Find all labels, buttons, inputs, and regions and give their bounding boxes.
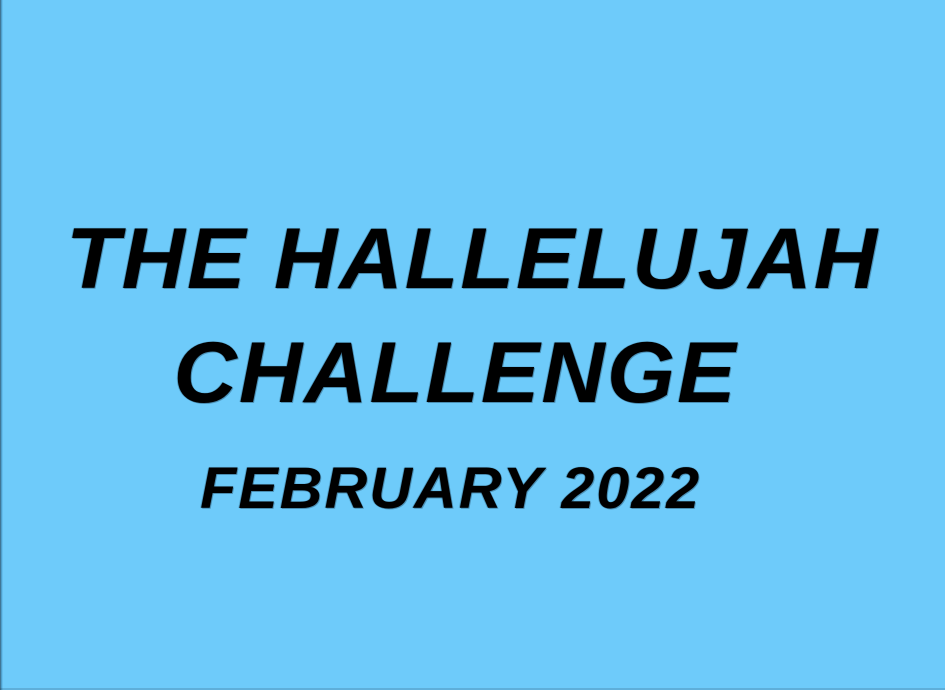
- subtitle-date: FEBRUARY 2022: [200, 460, 701, 518]
- title-line-2: CHALLENGE: [173, 330, 737, 416]
- title-block: THE HALLELUJAH CHALLENGE FEBRUARY 2022: [0, 0, 945, 690]
- title-line-1: THE HALLELUJAH: [66, 216, 879, 302]
- title-card-screen: THE HALLELUJAH CHALLENGE FEBRUARY 2022: [0, 0, 945, 690]
